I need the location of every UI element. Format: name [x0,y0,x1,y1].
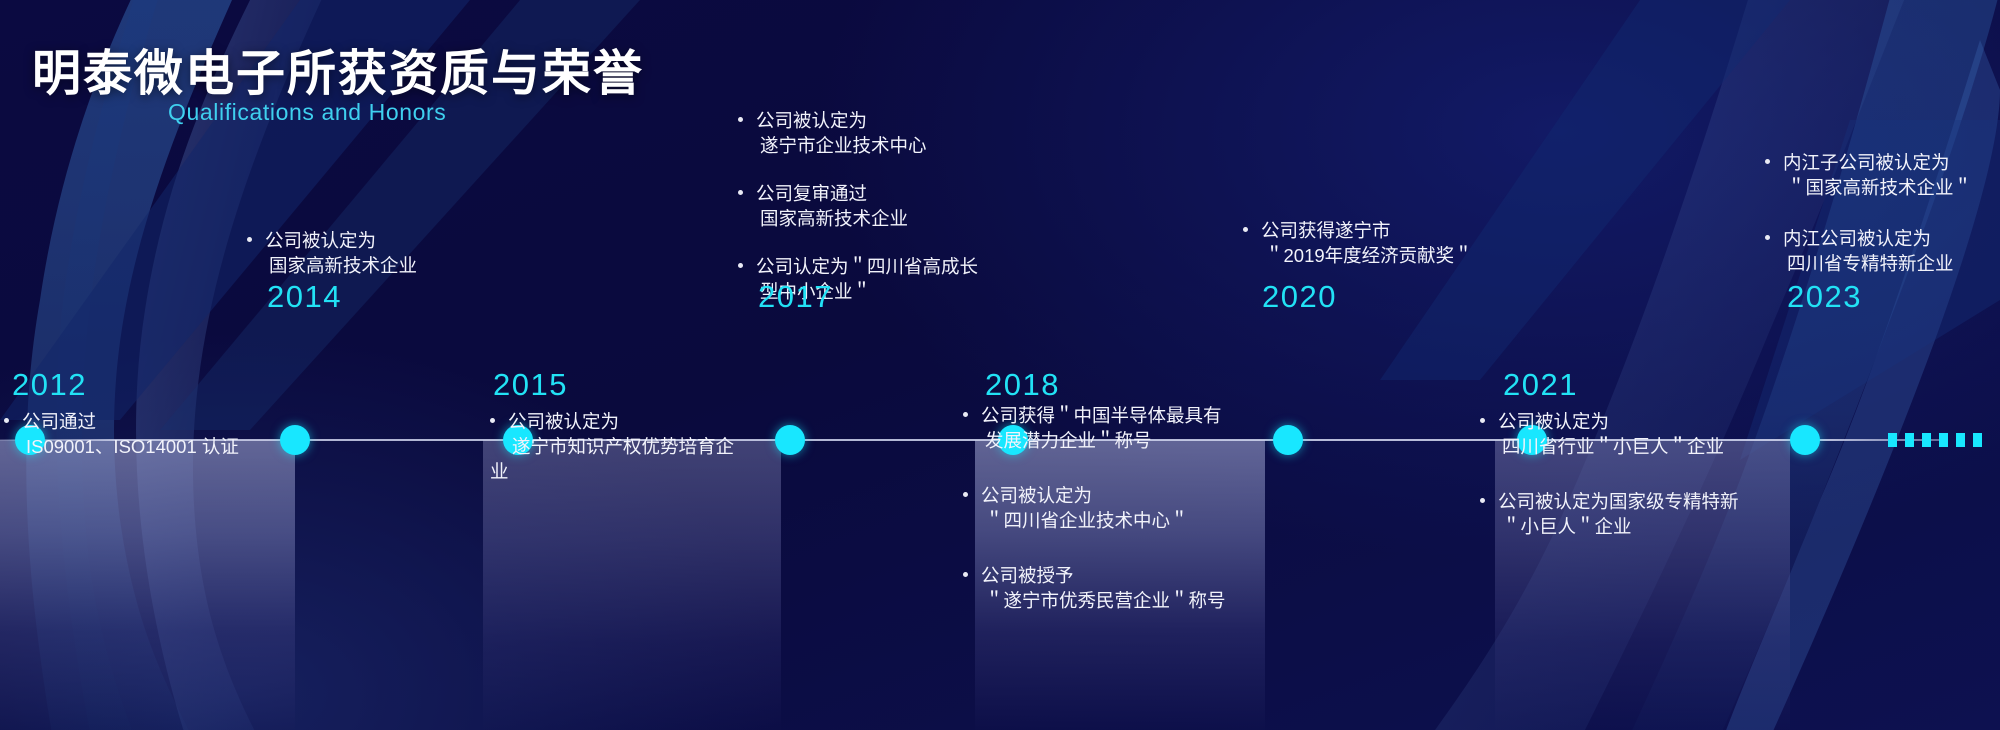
bullet-dot-icon [963,572,968,577]
list-item: 公司被认定为 ＂四川省企业技术中心＂ [963,483,1226,533]
bullet-dot-icon [738,117,743,122]
bullets-2020: 公司获得遂宁市 ＂2019年度经济贡献奖＂ [1243,218,1473,268]
bullet-line: ＂2019年度经济贡献奖＂ [1261,243,1473,268]
bullets-2023: 内江子公司被认定为 ＂国家高新技术企业＂ 内江公司被认定为 四川省专精特新企业 [1765,150,1972,276]
list-item: 公司被认定为 遂宁市企业技术中心 [738,108,978,158]
bullet-dot-icon [963,412,968,417]
bullet-dot-icon [1765,159,1770,164]
list-item: 公司复审通过 国家高新技术企业 [738,181,978,231]
bullet-line: 公司被认定为 [265,228,417,253]
axis-end-dashes [1888,433,1982,447]
bullet-line: 国家高新技术企业 [756,206,978,231]
bullet-line: ＂遂宁市优秀民营企业＂称号 [981,588,1226,613]
bullet-dot-icon [1765,235,1770,240]
timeline-node-2016[interactable] [775,425,805,455]
year-label-2018: 2018 [985,367,1060,403]
list-item: 公司获得遂宁市 ＂2019年度经济贡献奖＂ [1243,218,1473,268]
year-panel-2012 [0,440,295,730]
bullets-2021: 公司被认定为 四川省行业＂小巨人＂企业 公司被认定为国家级专精特新 ＂小巨人＂企… [1480,409,1739,539]
year-label-2017: 2017 [758,279,833,315]
bullets-2017: 公司被认定为 遂宁市企业技术中心 公司复审通过 国家高新技术企业 公司认定为＂四… [738,108,978,304]
bullet-line: 公司认定为＂四川省高成长 [756,254,978,279]
bullet-line: 公司获得遂宁市 [1261,218,1473,243]
bullet-dot-icon [490,418,495,423]
bullet-dot-icon [1480,418,1485,423]
bullet-dot-icon [738,190,743,195]
bullets-2012: 公司通过 IS09001、ISO14001 认证 [4,409,239,459]
bullet-line: ＂四川省企业技术中心＂ [981,508,1226,533]
page-subtitle: Qualifications and Honors [168,99,446,126]
bullet-dot-icon [1243,227,1248,232]
bullet-line: 公司被认定为 [981,483,1226,508]
bullet-line: 发展潜力企业＂称号 [981,428,1226,453]
bullet-line: 公司被认定为 [756,108,978,133]
bullets-2018: 公司获得＂中国半导体最具有 发展潜力企业＂称号 公司被认定为 ＂四川省企业技术中… [963,403,1226,613]
bullet-dot-icon [4,418,9,423]
bullet-dot-icon [963,492,968,497]
bullet-line: ＂小巨人＂企业 [1498,514,1739,539]
bullet-line: 公司被认定为 [1498,409,1739,434]
bullet-line-overflow: 业 [490,459,734,484]
timeline-node-2013[interactable] [280,425,310,455]
bullets-2014: 公司被认定为 国家高新技术企业 [247,228,417,278]
timeline-node-2019[interactable] [1273,425,1303,455]
page-title: 明泰微电子所获资质与荣誉 [32,34,644,105]
year-label-2012: 2012 [12,367,87,403]
bullet-line: IS09001、ISO14001 认证 [22,434,239,459]
bullet-line: 公司被授予 [981,563,1226,588]
timeline-slide: 明泰微电子所获资质与荣誉 Qualifications and Honors 公… [0,0,2000,730]
list-item: 公司被认定为 四川省行业＂小巨人＂企业 [1480,409,1739,459]
bullet-line: 内江子公司被认定为 [1783,150,1972,175]
bullets-2015: 公司被认定为 遂宁市知识产权优势培育企 业 [490,409,734,484]
year-label-2021: 2021 [1503,367,1578,403]
bullet-dot-icon [1480,498,1485,503]
bullet-line: 遂宁市企业技术中心 [756,133,978,158]
year-label-2020: 2020 [1262,279,1337,315]
list-item: 公司被认定为 遂宁市知识产权优势培育企 业 [490,409,734,484]
list-item: 内江子公司被认定为 ＂国家高新技术企业＂ [1765,150,1972,200]
bullet-line: 四川省专精特新企业 [1783,251,1972,276]
bullet-line: 公司被认定为国家级专精特新 [1498,489,1739,514]
year-label-2023: 2023 [1787,279,1862,315]
bullet-line: 公司通过 [22,409,239,434]
bullet-line: 国家高新技术企业 [265,253,417,278]
year-label-2014: 2014 [267,279,342,315]
bullet-line: 内江公司被认定为 [1783,226,1972,251]
bullet-line: ＂国家高新技术企业＂ [1783,175,1972,200]
list-item: 公司被授予 ＂遂宁市优秀民营企业＂称号 [963,563,1226,613]
year-label-2015: 2015 [493,367,568,403]
bullet-line: 公司获得＂中国半导体最具有 [981,403,1226,428]
list-item: 公司获得＂中国半导体最具有 发展潜力企业＂称号 [963,403,1226,453]
bullet-dot-icon [738,263,743,268]
list-item: 内江公司被认定为 四川省专精特新企业 [1765,226,1972,276]
bullet-line: 遂宁市知识产权优势培育企 [508,434,734,459]
bullet-line: 公司被认定为 [508,409,734,434]
bullet-line: 四川省行业＂小巨人＂企业 [1498,434,1739,459]
list-item: 公司被认定为 国家高新技术企业 [247,228,417,278]
timeline-node-2022[interactable] [1790,425,1820,455]
bullet-line: 公司复审通过 [756,181,978,206]
bullet-dot-icon [247,237,252,242]
list-item: 公司通过 IS09001、ISO14001 认证 [4,409,239,459]
list-item: 公司被认定为国家级专精特新 ＂小巨人＂企业 [1480,489,1739,539]
